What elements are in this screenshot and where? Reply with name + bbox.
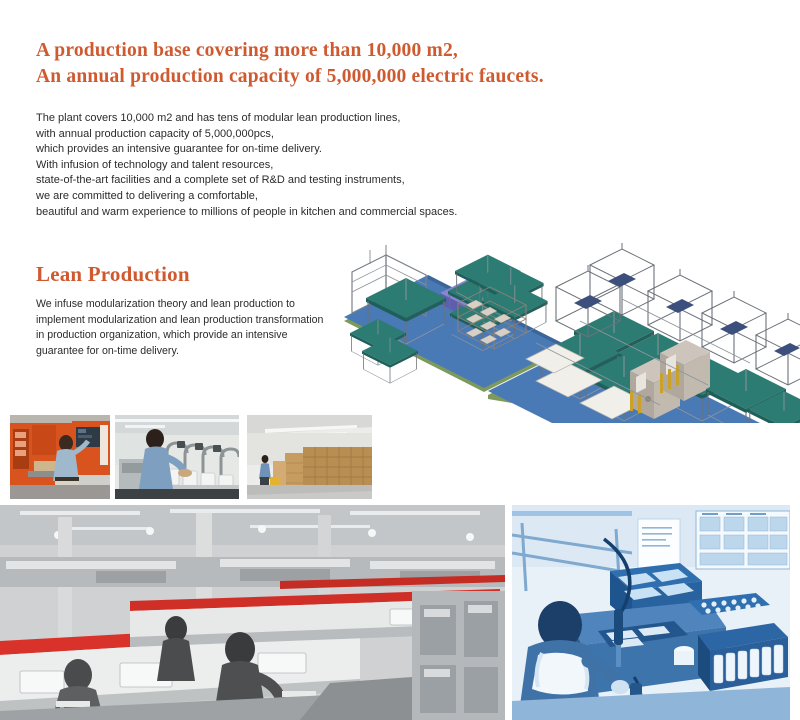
photo-factory-floor — [0, 505, 505, 720]
page-headline: A production base covering more than 10,… — [36, 38, 656, 90]
intro-line: The plant covers 10,000 m2 and has tens … — [36, 111, 556, 127]
intro-line: state-of-the-art facilities and a comple… — [36, 173, 556, 189]
lean-production-paragraph: We infuse modularization theory and lean… — [36, 297, 336, 359]
intro-line: With infusion of technology and talent r… — [36, 158, 556, 174]
photo-assembly-blue — [512, 505, 790, 720]
photo-molding — [10, 415, 110, 499]
lean-line: guarantee for on-time delivery. — [36, 344, 336, 360]
lean-line: in production organization, which provid… — [36, 328, 336, 344]
headline-line-2: An annual production capacity of 5,000,0… — [36, 64, 656, 90]
isometric-factory-layout — [330, 243, 800, 423]
photo-warehouse — [247, 415, 372, 499]
intro-line: with annual production capacity of 5,000… — [36, 127, 556, 143]
brochure-page: A production base covering more than 10,… — [0, 0, 800, 720]
lean-line: implement modularization and lean produc… — [36, 313, 336, 329]
intro-line: we are committed to delivering a comfort… — [36, 189, 556, 205]
intro-paragraph: The plant covers 10,000 m2 and has tens … — [36, 111, 556, 220]
headline-line-1: A production base covering more than 10,… — [36, 40, 458, 61]
photo-testing — [115, 415, 239, 499]
intro-line: which provides an intensive guarantee fo… — [36, 142, 556, 158]
intro-line: beautiful and warm experience to million… — [36, 205, 556, 221]
lean-production-title: Lean Production — [36, 262, 190, 287]
lean-line: We infuse modularization theory and lean… — [36, 297, 336, 313]
